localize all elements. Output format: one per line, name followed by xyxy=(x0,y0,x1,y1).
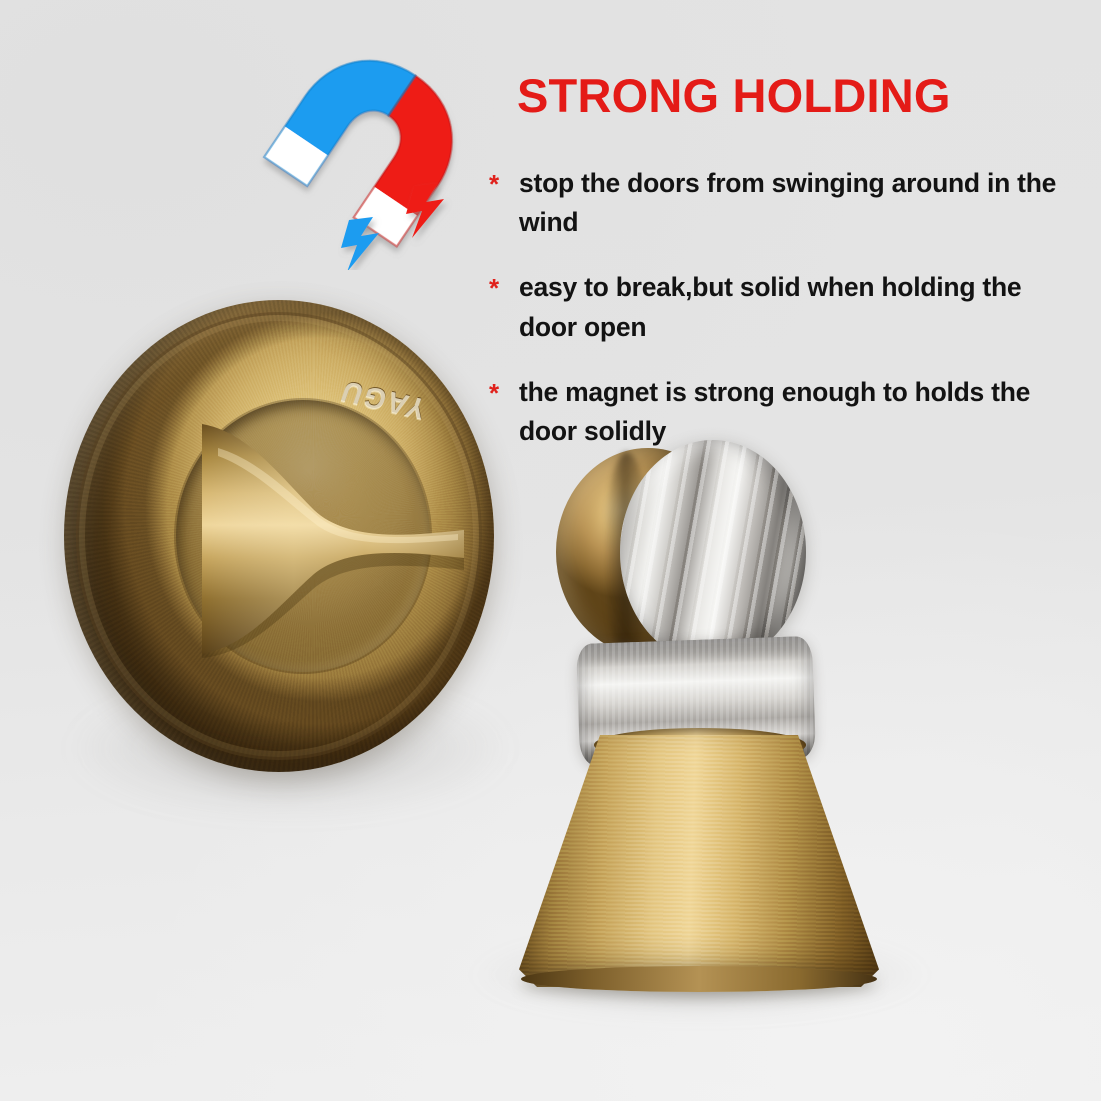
bullet-star-icon: * xyxy=(489,164,519,197)
base-cone xyxy=(519,735,879,987)
base-bottom-edge xyxy=(521,966,877,992)
horseshoe-magnet-icon xyxy=(252,42,477,270)
page-title: STRONG HOLDING xyxy=(517,72,1069,120)
list-item: * stop the doors from swinging around in… xyxy=(489,164,1069,242)
feature-text-panel: STRONG HOLDING * stop the doors from swi… xyxy=(489,72,1069,477)
knob-chrome-ring xyxy=(620,440,806,664)
bullet-star-icon: * xyxy=(489,268,519,301)
bullet-text: easy to break,but solid when holding the… xyxy=(519,268,1064,346)
bullet-star-icon: * xyxy=(489,373,519,406)
list-item: * easy to break,but solid when holding t… xyxy=(489,268,1069,346)
chrome-grooves xyxy=(620,440,806,664)
brushed-texture xyxy=(519,735,879,987)
product-feature-image: STRONG HOLDING * stop the doors from swi… xyxy=(0,0,1101,1101)
bullet-text: stop the doors from swinging around in t… xyxy=(519,164,1064,242)
